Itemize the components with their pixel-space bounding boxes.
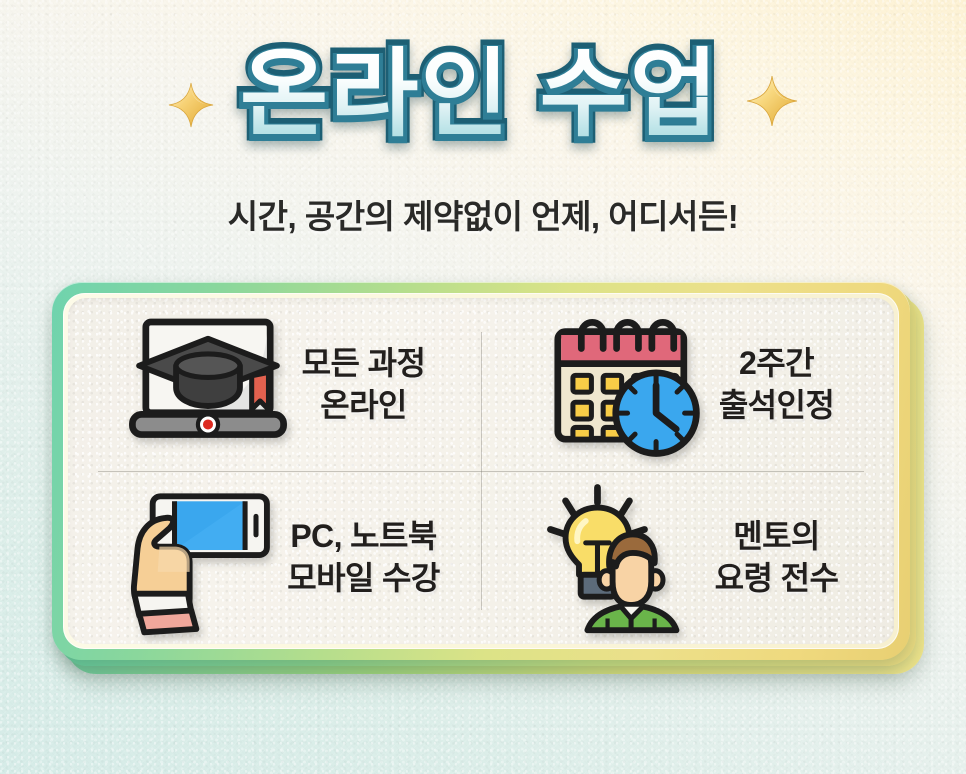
- feature-label-line2: 요령 전수: [715, 558, 839, 600]
- feature-item-devices[interactable]: PC, 노트북 모바일 수강: [68, 471, 481, 644]
- title-text: 온라인 수업: [240, 44, 720, 146]
- sparkle-icon: [168, 82, 214, 128]
- poster-canvas: 온라인 수업 온라인 수업 온라인 수업 시간, 공간의 제약없이 언제, 어디…: [0, 0, 966, 774]
- feature-label: PC, 노트북 모바일 수강: [287, 516, 440, 599]
- feature-label: 2주간 출석인정: [719, 343, 834, 426]
- feature-label-line1: PC, 노트북: [287, 516, 440, 558]
- feature-label-line2: 모바일 수강: [287, 558, 440, 600]
- feature-label: 모든 과정 온라인: [302, 343, 426, 426]
- feature-label-line1: 모든 과정: [302, 343, 426, 385]
- feature-label-line1: 멘토의: [715, 516, 839, 558]
- headline-row: 온라인 수업 온라인 수업 온라인 수업: [0, 44, 966, 146]
- laptop-graduation-cap-icon: [124, 309, 292, 461]
- poster-title: 온라인 수업 온라인 수업 온라인 수업: [240, 44, 720, 146]
- feature-label: 멘토의 요령 전수: [715, 516, 839, 599]
- feature-item-online-courses[interactable]: 모든 과정 온라인: [68, 298, 481, 471]
- feature-grid: 모든 과정 온라인: [68, 298, 894, 644]
- feature-label-line1: 2주간: [719, 343, 834, 385]
- feature-card-rim: 모든 과정 온라인: [63, 293, 899, 649]
- lightbulb-mentor-icon: [537, 482, 705, 634]
- feature-card-body: 모든 과정 온라인: [68, 298, 894, 644]
- feature-label-line2: 온라인: [302, 385, 426, 427]
- feature-item-attendance[interactable]: 2주간 출석인정: [481, 298, 894, 471]
- poster-subtitle: 시간, 공간의 제약없이 언제, 어디서든!: [0, 190, 966, 238]
- sparkle-icon: [746, 75, 798, 127]
- feature-item-mentor[interactable]: 멘토의 요령 전수: [481, 471, 894, 644]
- feature-label-line2: 출석인정: [719, 385, 834, 427]
- hand-smartphone-icon: [109, 482, 277, 634]
- feature-card-frame: 모든 과정 온라인: [52, 282, 910, 660]
- calendar-clock-icon: [541, 309, 709, 461]
